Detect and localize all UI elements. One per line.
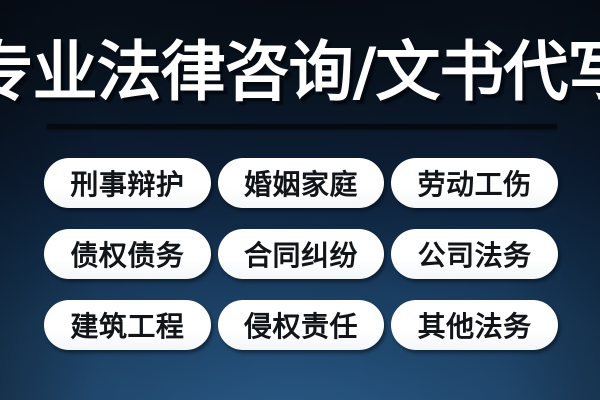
service-pill-marriage-family[interactable]: 婚姻家庭 xyxy=(218,158,385,208)
banner-headline: 专业法律咨询/文书代写 xyxy=(0,30,600,114)
service-row: 债权债务 合同纠纷 公司法务 xyxy=(44,229,558,279)
service-pill-criminal-defense[interactable]: 刑事辩护 xyxy=(44,158,211,208)
service-row: 建筑工程 侵权责任 其他法务 xyxy=(44,300,558,350)
headline-divider xyxy=(47,124,557,129)
service-pill-labor-injury[interactable]: 劳动工伤 xyxy=(391,158,558,208)
service-pill-debt-claims[interactable]: 债权债务 xyxy=(44,229,211,279)
banner-content: 专业法律咨询/文书代写 刑事辩护 婚姻家庭 劳动工伤 债权债务 合同纠纷 公司法… xyxy=(0,0,600,400)
service-pill-corporate-legal[interactable]: 公司法务 xyxy=(391,229,558,279)
service-pill-contract-dispute[interactable]: 合同纠纷 xyxy=(218,229,385,279)
service-row: 刑事辩护 婚姻家庭 劳动工伤 xyxy=(44,158,558,208)
service-pill-construction-engineering[interactable]: 建筑工程 xyxy=(44,300,211,350)
service-pill-other-legal[interactable]: 其他法务 xyxy=(391,300,558,350)
legal-services-banner: 专业法律咨询/文书代写 刑事辩护 婚姻家庭 劳动工伤 债权债务 合同纠纷 公司法… xyxy=(0,0,600,400)
service-pill-grid: 刑事辩护 婚姻家庭 劳动工伤 债权债务 合同纠纷 公司法务 建筑工程 侵权责任 … xyxy=(44,158,558,350)
service-pill-tort-liability[interactable]: 侵权责任 xyxy=(218,300,385,350)
